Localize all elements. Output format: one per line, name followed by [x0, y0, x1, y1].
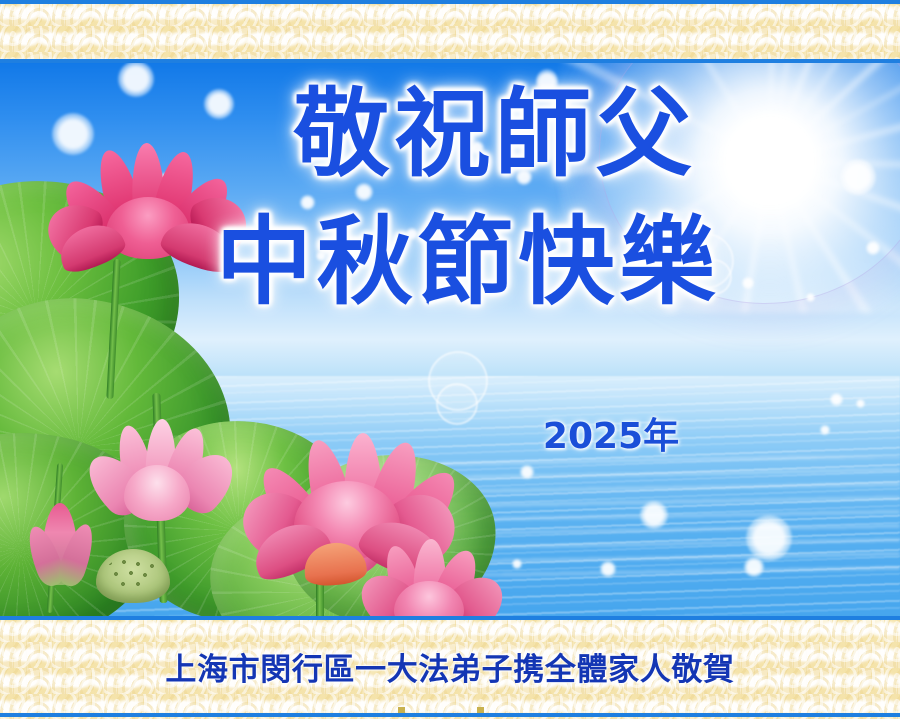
- lotus-leaf: [0, 162, 196, 450]
- lotus-petal: [78, 445, 155, 523]
- bokeh-dot: [512, 559, 522, 569]
- greeting-card: 敬祝師父 中秋節快樂 2025年 上海市閔行區一大法弟子携全體家人敬賀: [0, 0, 900, 719]
- lotus-leaf: [0, 423, 167, 616]
- bokeh-dot: [746, 515, 792, 561]
- bokeh-ring: [436, 383, 478, 425]
- bokeh-dot: [820, 425, 830, 435]
- bokeh-dot: [866, 241, 880, 255]
- bottom-tick-mark: [398, 707, 405, 713]
- lotus-flower-right-cluster: [352, 541, 502, 616]
- bokeh-dot: [204, 89, 234, 119]
- lotus-stem: [47, 463, 63, 613]
- bokeh-dot: [316, 251, 326, 261]
- lotus-stem: [106, 259, 120, 399]
- bokeh-dot: [516, 169, 532, 185]
- bokeh-dot: [806, 293, 815, 302]
- bokeh-dot: [254, 215, 266, 227]
- lotus-petal: [54, 171, 134, 257]
- lotus-petal: [149, 148, 201, 234]
- lotus-petal: [161, 169, 239, 256]
- bokeh-ring: [696, 259, 732, 295]
- bokeh-dot: [742, 277, 754, 289]
- bokeh-dot: [520, 465, 534, 479]
- lotus-bud-left: [26, 503, 96, 603]
- seed-pod-head: [96, 549, 170, 603]
- bokeh-ring: [428, 351, 488, 411]
- lotus-petal: [38, 194, 109, 267]
- sun-burst-icon: [560, 63, 900, 313]
- sky-water-scene: [0, 63, 900, 616]
- lotus-seed-pod: [96, 549, 170, 609]
- top-inner-rule: [0, 59, 900, 63]
- bokeh-dot: [52, 113, 94, 155]
- bokeh-dot: [160, 173, 169, 182]
- bokeh-dot: [856, 399, 865, 408]
- bottom-outer-rule: [0, 713, 900, 717]
- lotus-petal: [55, 521, 100, 590]
- seed-pod-seeds: [104, 557, 162, 591]
- lotus-petal: [42, 503, 78, 585]
- bokeh-dot: [830, 393, 843, 406]
- lotus-petal: [131, 142, 166, 225]
- lotus-flower-mid-left: [80, 425, 230, 535]
- top-outer-rule: [0, 0, 900, 4]
- bokeh-dot: [470, 141, 484, 155]
- bokeh-dot: [139, 154, 161, 178]
- lotus-flower-center: [124, 465, 190, 521]
- lotus-stem: [152, 393, 167, 603]
- bokeh-dot: [840, 159, 876, 195]
- lotus-leaf: [0, 284, 243, 584]
- sun-halo-icon: [600, 63, 900, 303]
- lotus-flower-top-left: [40, 153, 240, 283]
- lotus-petal: [183, 186, 257, 263]
- bokeh-ring: [678, 233, 734, 289]
- bottom-inner-rule: [0, 616, 900, 620]
- lotus-flower-center: [106, 197, 190, 259]
- lotus-petal: [145, 418, 178, 495]
- lotus-petal: [113, 423, 157, 500]
- bottom-tick-mark: [477, 707, 484, 713]
- lotus-petal: [157, 214, 241, 279]
- lotus-petal: [53, 216, 129, 278]
- lotus-petal: [92, 146, 147, 232]
- bokeh-dot: [536, 69, 558, 95]
- bokeh-dot: [640, 501, 668, 529]
- lotus-petal: [160, 424, 212, 500]
- top-decorative-border: [0, 0, 900, 63]
- bokeh-dot: [406, 228, 418, 240]
- lotus-petal: [22, 522, 68, 589]
- signature-line: 上海市閔行區一大法弟子携全體家人敬賀: [0, 644, 900, 689]
- bokeh-dot: [600, 561, 616, 577]
- bokeh-dot: [118, 63, 154, 97]
- bokeh-dot: [744, 557, 764, 577]
- bokeh-dot: [300, 195, 315, 210]
- bokeh-dot: [355, 183, 373, 201]
